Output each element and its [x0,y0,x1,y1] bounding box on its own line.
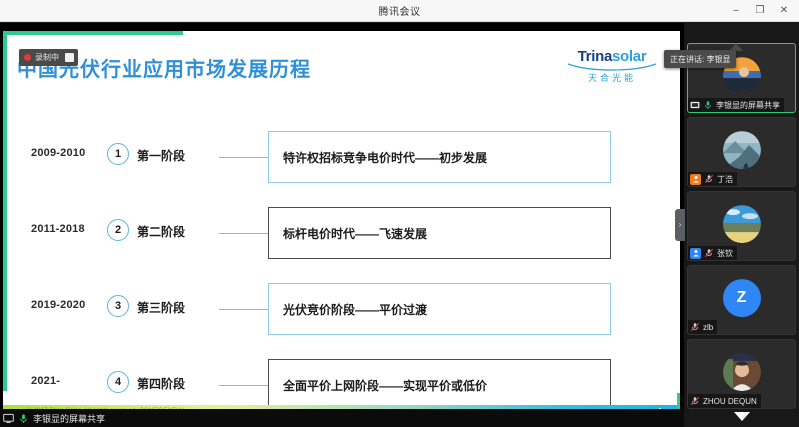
timeline-rows: 2009-2010 1 第一阶段 特许权招标竞争电价时代——初步发展 2011-… [3,119,680,423]
row-year: 2009-2010 [31,147,109,159]
row-phase-label: 第四阶段 [137,375,185,392]
minimize-button[interactable]: – [725,1,747,21]
row-content-text: 全面平价上网阶段——实现平价或低价 [283,377,487,394]
row-content-box: 全面平价上网阶段——实现平价或低价 [268,359,611,411]
screen-share-taskbar: 李银显的屏幕共享 [0,409,684,427]
slide-accent-top [3,31,183,35]
row-year: 2011-2018 [31,223,109,235]
row-connector-line [219,233,271,234]
timeline-row: 2009-2010 1 第一阶段 特许权招标竞争电价时代——初步发展 [3,119,680,195]
screen-share-icon [690,100,700,110]
row-content-box: 光伏竞价阶段——平价过渡 [268,283,611,335]
row-content-text: 光伏竞价阶段——平价过渡 [283,301,427,318]
maximize-button[interactable]: ❐ [749,1,771,21]
tile-info-bar: 李银显的屏幕共享 [688,98,784,112]
timeline-row: 2019-2020 3 第三阶段 光伏竞价阶段——平价过渡 [3,271,680,347]
logo-wordmark: Trinasolar [566,49,658,64]
microphone-icon [703,100,713,110]
microphone-muted-icon [704,174,714,184]
window-title: 腾讯会议 [379,3,421,18]
participant-name: zlb [703,323,713,332]
scroll-down-indicator-icon[interactable] [734,412,750,421]
avatar [723,353,761,391]
avatar [723,131,761,169]
row-phase-label: 第三阶段 [137,299,185,316]
avatar [723,205,761,243]
tile-info-bar: 张钦 [688,246,737,260]
timeline-row: 2011-2018 2 第二阶段 标杆电价时代——飞速发展 [3,195,680,271]
participant-tile-list: 李银显的屏幕共享 [687,43,796,413]
stop-recording-icon[interactable] [65,53,74,62]
row-connector-line [219,157,271,158]
row-step-number: 4 [107,371,129,393]
speaking-tooltip-text: 正在讲话: 李银显 [670,54,730,65]
tile-info-bar: 丁浩 [688,172,737,186]
row-phase-label: 第二阶段 [137,223,185,240]
row-year: 2021- [31,375,109,387]
screen-share-label: 李银显的屏幕共享 [33,412,105,425]
microphone-muted-icon [690,322,700,332]
row-step-number: 3 [107,295,129,317]
participants-sidebar: › 正在讲话: 李银显 [684,23,799,427]
participant-name: 李银显的屏幕共享 [716,100,780,111]
microphone-muted-icon [690,396,700,406]
row-connector-line [219,385,271,386]
participant-tile[interactable]: Z zlb [687,265,796,335]
close-button[interactable]: ✕ [773,1,795,21]
participant-tile[interactable]: ZHOU DEQUN [687,339,796,409]
row-phase-label: 第一阶段 [137,147,185,164]
speaking-tooltip: 正在讲话: 李银显 [664,50,736,68]
row-content-box: 标杆电价时代——飞速发展 [268,207,611,259]
avatar: Z [723,279,761,317]
tile-info-bar: ZHOU DEQUN [688,394,761,408]
row-content-text: 标杆电价时代——飞速发展 [283,225,427,242]
participant-badge-icon [690,174,701,185]
row-content-box: 特许权招标竞争电价时代——初步发展 [268,131,611,183]
chevron-right-icon: › [679,221,682,229]
logo-swoosh-icon [566,64,658,72]
row-content-text: 特许权招标竞争电价时代——初步发展 [283,149,487,166]
window-controls: – ❐ ✕ [725,0,795,22]
participant-name: 张钦 [717,248,733,259]
trina-solar-logo: Trinasolar 天合光能 [566,49,658,84]
participant-badge-icon [690,248,701,259]
tencent-meeting-window: 腾讯会议 – ❐ ✕ 中国光伏行业应用市场发展历程 录制中 Trinasolar [0,0,799,427]
logo-chinese-name: 天合光能 [566,71,658,84]
microphone-muted-icon [704,248,714,258]
row-year: 2019-2020 [31,299,109,311]
participant-tile[interactable]: 张钦 [687,191,796,261]
presentation-slide: 中国光伏行业应用市场发展历程 录制中 Trinasolar 天合光能 [3,31,680,423]
recording-label: 录制中 [35,52,59,63]
shared-screen-stage: 中国光伏行业应用市场发展历程 录制中 Trinasolar 天合光能 [0,23,684,427]
sidebar-collapse-handle[interactable]: › [675,209,685,241]
participant-name: 丁浩 [717,174,733,185]
monitor-icon [3,413,14,424]
participant-tile[interactable]: 丁浩 [687,117,796,187]
tile-info-bar: zlb [688,320,717,334]
microphone-icon [18,413,29,424]
recording-badge[interactable]: 录制中 [19,49,78,66]
recording-dot-icon [24,54,31,61]
row-connector-line [219,309,271,310]
row-step-number: 1 [107,143,129,165]
window-titlebar: 腾讯会议 – ❐ ✕ [0,0,799,22]
row-step-number: 2 [107,219,129,241]
participant-name: ZHOU DEQUN [703,397,757,406]
